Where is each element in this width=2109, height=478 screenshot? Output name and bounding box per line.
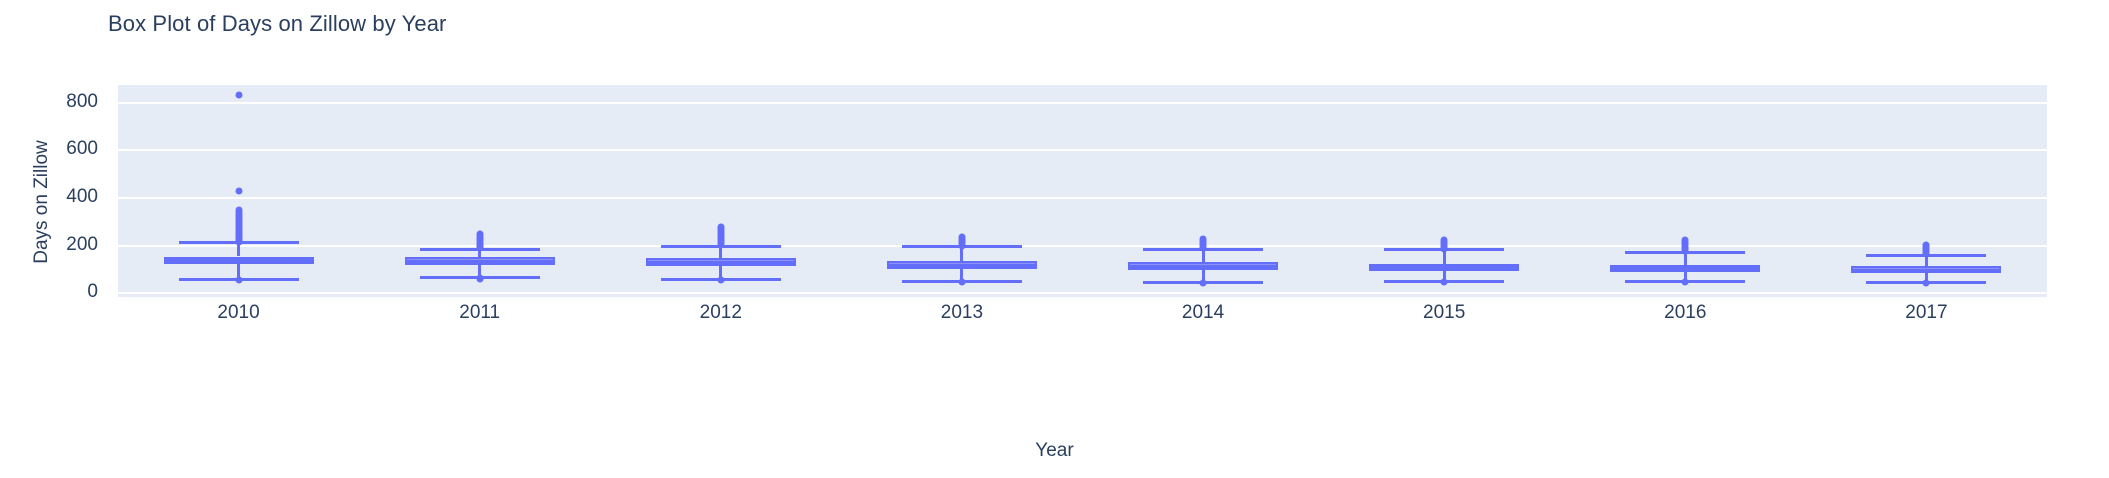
x-tick-label: 2011 [459,302,500,324]
x-tick-label: 2016 [1664,302,1706,324]
x-tick-label: 2014 [1182,302,1224,324]
y-axis-tick-labels: 0200400600800 [0,85,108,297]
upper-whisker [1925,255,1928,266]
outlier-point [1923,279,1930,286]
plot-area [118,85,2047,297]
x-tick-label: 2015 [1423,302,1465,324]
outlier-point [1923,250,1930,257]
box-plot-2017[interactable] [118,85,2047,297]
y-tick-label: 0 [87,281,98,303]
x-tick-label: 2013 [941,302,983,324]
y-tick-label: 600 [66,138,98,160]
chart-title: Box Plot of Days on Zillow by Year [108,11,446,37]
x-tick-label: 2017 [1905,302,1947,324]
y-tick-label: 400 [66,186,98,208]
box-plot-figure: Box Plot of Days on Zillow by Year Days … [0,0,2109,478]
y-tick-label: 200 [66,234,98,256]
x-axis-tick-labels: 20102011201220132014201520162017 [118,302,2047,332]
x-tick-label: 2012 [700,302,742,324]
x-tick-label: 2010 [217,302,259,324]
median-line [1851,269,2001,272]
x-axis-title: Year [0,440,2109,462]
y-tick-label: 800 [66,91,98,113]
